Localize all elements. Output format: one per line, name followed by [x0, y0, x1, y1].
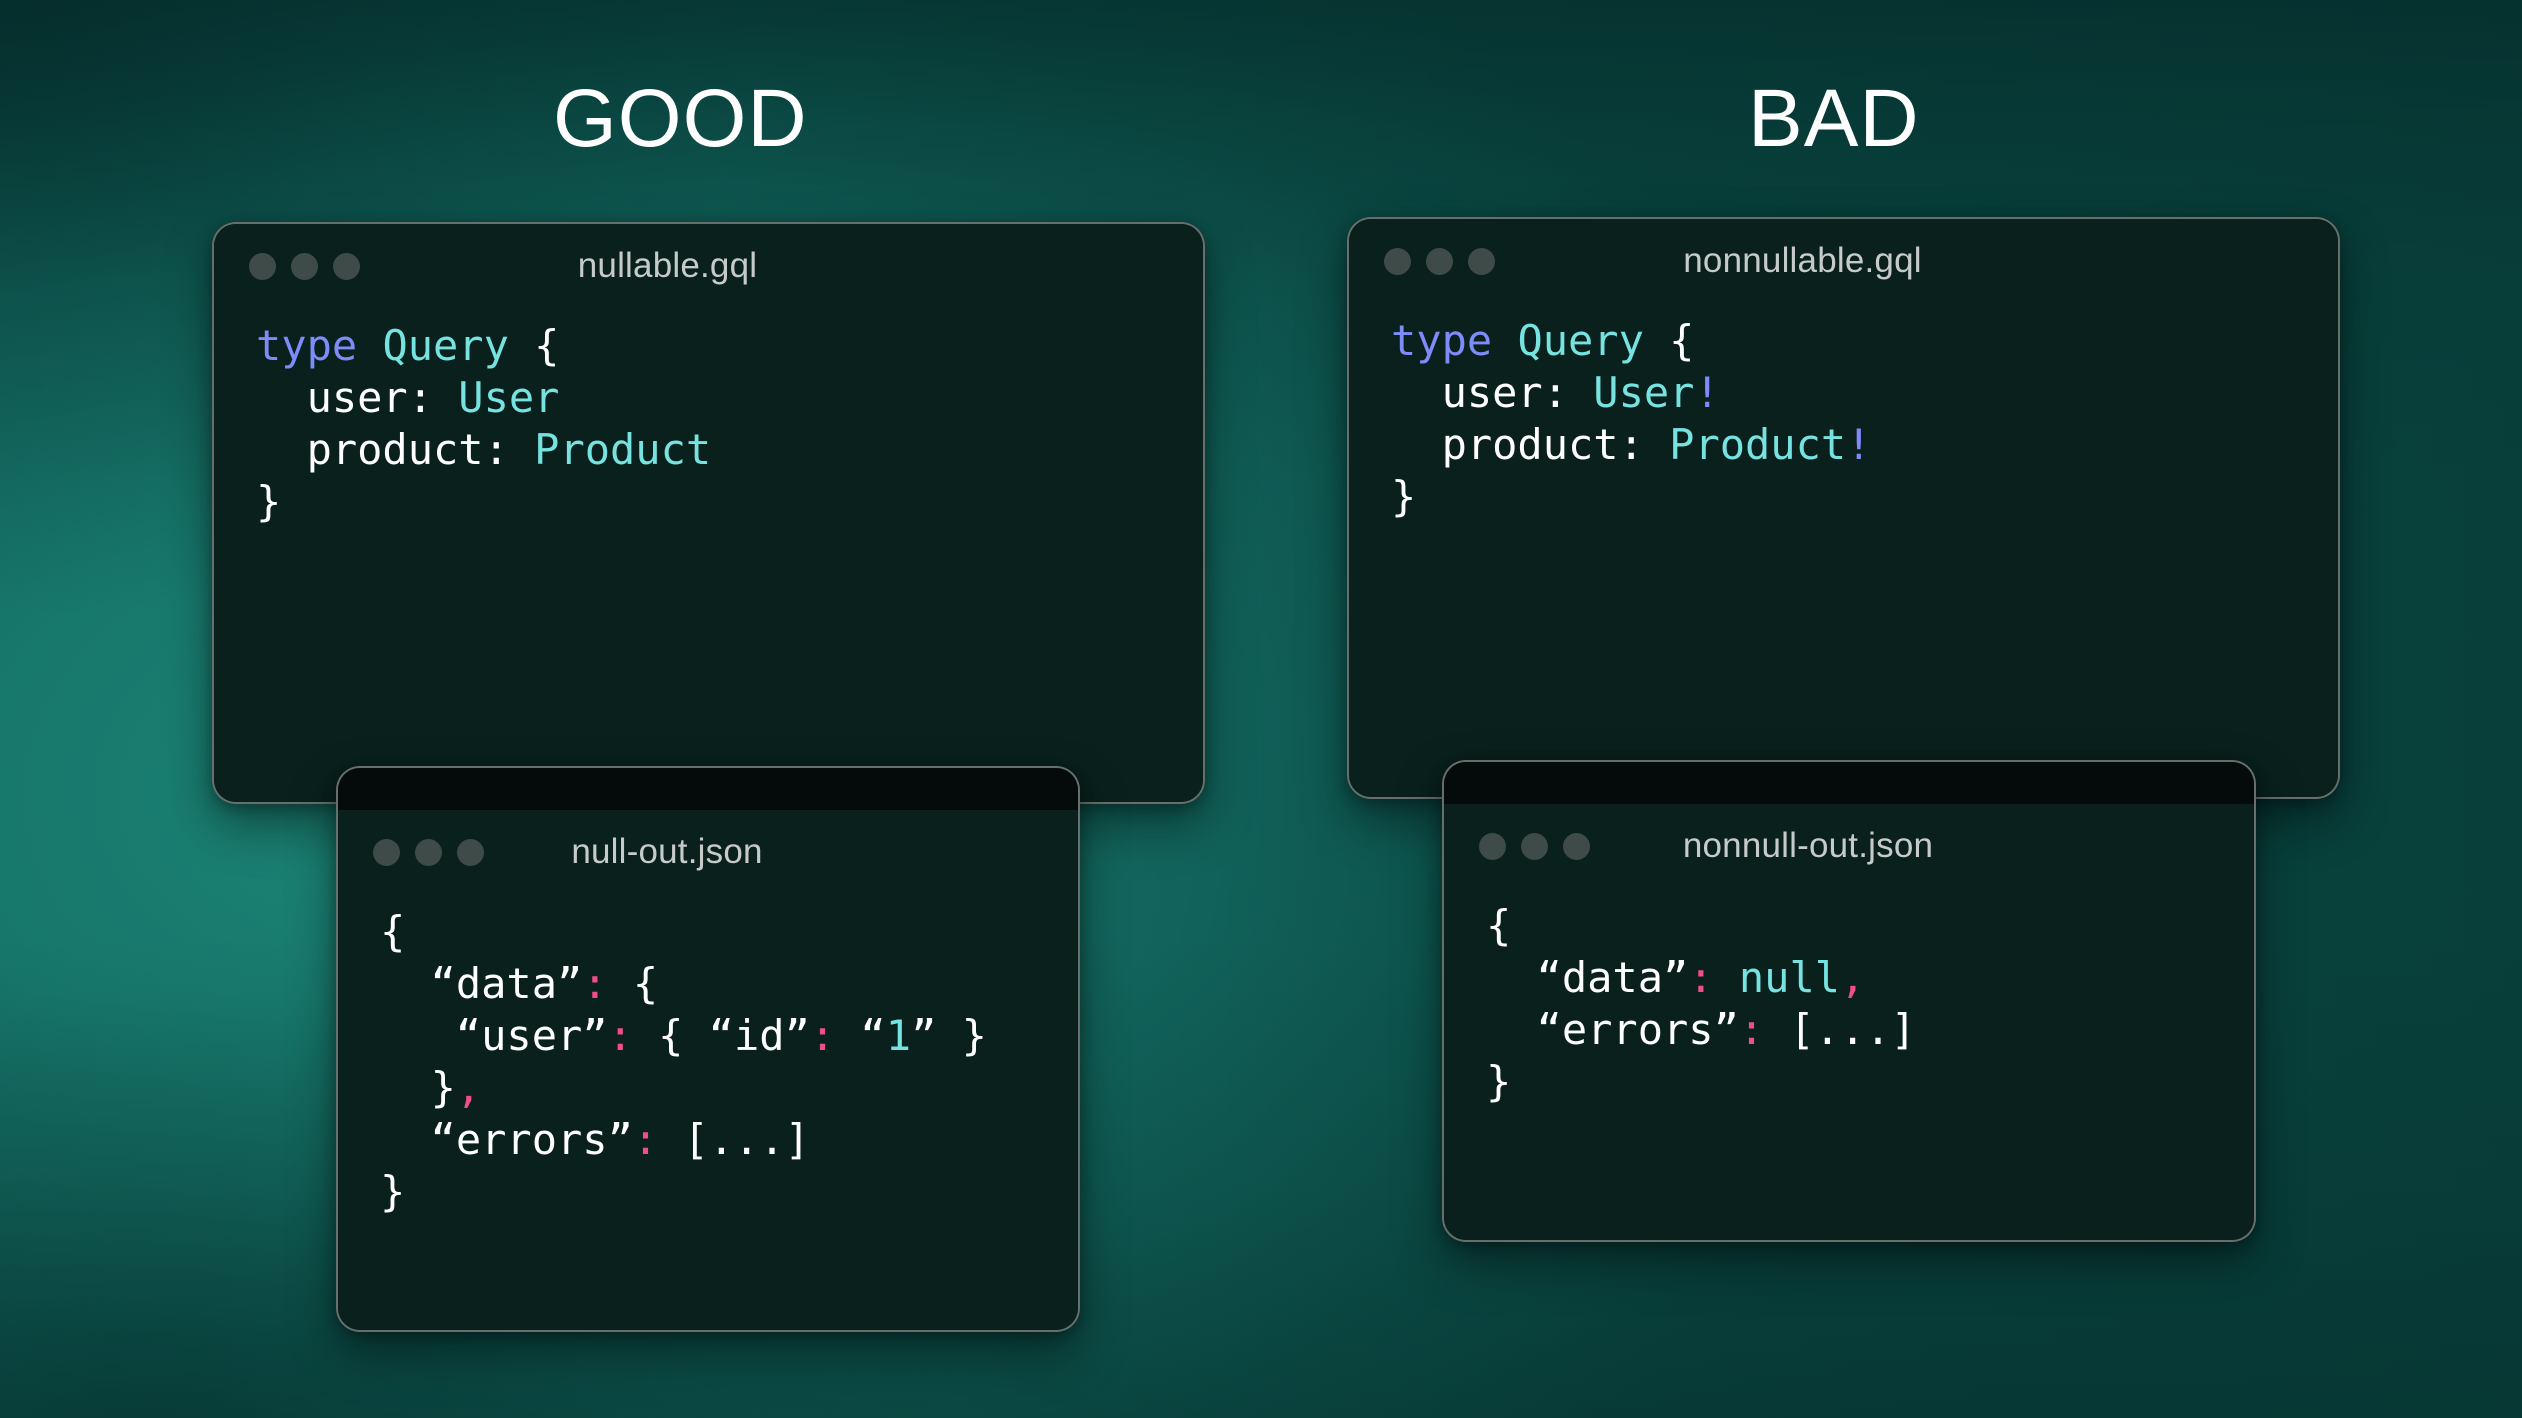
code-token: product:: [256, 425, 534, 474]
code-token: !: [1846, 420, 1871, 469]
code-line: },: [380, 1062, 1078, 1114]
window-body: nullable.gql type Query { user: User pro…: [214, 224, 1203, 802]
maximize-dot[interactable]: [457, 839, 484, 866]
code-line: }: [256, 476, 1203, 528]
window-title: nonnullable.gql: [1349, 241, 2338, 281]
code-token: Query: [382, 321, 508, 370]
code-token: User: [458, 373, 559, 422]
window-nonnullable-gql[interactable]: nonnullable.gql type Query { user: User!…: [1347, 217, 2340, 799]
code-token: “data”: [1486, 953, 1688, 1002]
code-token: {: [380, 907, 405, 956]
code-line: {: [380, 906, 1078, 958]
code-token: :: [1739, 1005, 1764, 1054]
code-token: “errors”: [380, 1115, 633, 1164]
code-block: { “data”: { “user”: { “id”: “1” } }, “er…: [338, 894, 1078, 1218]
code-line: product: Product!: [1391, 419, 2338, 471]
code-token: user:: [256, 373, 458, 422]
window-chrome-strip: [338, 768, 1078, 811]
code-token: “: [835, 1011, 886, 1060]
code-token: User: [1593, 368, 1694, 417]
code-token: “errors”: [1486, 1005, 1739, 1054]
code-token: {: [1644, 316, 1695, 365]
window-chrome-strip: [1444, 762, 2254, 805]
code-token: [1714, 953, 1739, 1002]
code-token: ,: [456, 1063, 481, 1112]
code-token: }: [256, 477, 281, 526]
code-line: }: [1391, 471, 2338, 523]
code-token: { “id”: [633, 1011, 810, 1060]
heading-good: GOOD: [553, 78, 808, 160]
code-token: Product: [534, 425, 711, 474]
close-dot[interactable]: [1479, 833, 1506, 860]
code-token: }: [1486, 1057, 1511, 1106]
code-token: !: [1694, 368, 1719, 417]
code-token: “user”: [380, 1011, 608, 1060]
code-token: Query: [1517, 316, 1643, 365]
minimize-dot[interactable]: [1426, 248, 1453, 275]
code-token: }: [380, 1063, 456, 1112]
code-line: “data”: {: [380, 958, 1078, 1010]
code-token: null: [1739, 953, 1840, 1002]
maximize-dot[interactable]: [333, 253, 360, 280]
window-titlebar[interactable]: nonnull-out.json: [1444, 804, 2254, 888]
code-line: }: [1486, 1056, 2254, 1108]
code-token: {: [1486, 901, 1511, 950]
maximize-dot[interactable]: [1563, 833, 1590, 860]
code-token: :: [582, 959, 607, 1008]
code-line: user: User: [256, 372, 1203, 424]
window-title: nullable.gql: [214, 246, 1203, 286]
window-titlebar[interactable]: nullable.gql: [214, 224, 1203, 308]
code-token: }: [1391, 472, 1416, 521]
traffic-lights[interactable]: [1479, 833, 1590, 860]
code-line: “user”: { “id”: “1” }: [380, 1010, 1078, 1062]
code-line: “data”: null,: [1486, 952, 2254, 1004]
window-nonnull-out-json[interactable]: nonnull-out.json { “data”: null, “errors…: [1442, 760, 2256, 1242]
code-block: { “data”: null, “errors”: [...]}: [1444, 888, 2254, 1108]
code-token: Product: [1669, 420, 1846, 469]
code-block: type Query { user: User! product: Produc…: [1349, 303, 2338, 523]
slide-canvas: GOOD BAD nullable.gql type Query { user:…: [0, 0, 2522, 1418]
code-token: ,: [1840, 953, 1865, 1002]
code-line: type Query {: [1391, 315, 2338, 367]
minimize-dot[interactable]: [291, 253, 318, 280]
code-token: :: [810, 1011, 835, 1060]
code-line: “errors”: [...]: [380, 1114, 1078, 1166]
window-body: nonnullable.gql type Query { user: User!…: [1349, 219, 2338, 797]
code-token: :: [608, 1011, 633, 1060]
code-token: {: [509, 321, 560, 370]
code-token: ” }: [911, 1011, 987, 1060]
traffic-lights[interactable]: [249, 253, 360, 280]
code-token: }: [380, 1167, 405, 1216]
code-token: [...]: [1764, 1005, 1916, 1054]
code-token: user:: [1391, 368, 1593, 417]
code-line: user: User!: [1391, 367, 2338, 419]
code-token: {: [608, 959, 659, 1008]
window-body: null-out.json { “data”: { “user”: { “id”…: [338, 810, 1078, 1330]
minimize-dot[interactable]: [1521, 833, 1548, 860]
code-token: product:: [1391, 420, 1669, 469]
code-token: type: [256, 321, 357, 370]
window-titlebar[interactable]: nonnullable.gql: [1349, 219, 2338, 303]
code-token: [...]: [658, 1115, 810, 1164]
code-line: product: Product: [256, 424, 1203, 476]
minimize-dot[interactable]: [415, 839, 442, 866]
close-dot[interactable]: [373, 839, 400, 866]
traffic-lights[interactable]: [373, 839, 484, 866]
code-token: [357, 321, 382, 370]
code-token: 1: [886, 1011, 911, 1060]
window-null-out-json[interactable]: null-out.json { “data”: { “user”: { “id”…: [336, 766, 1080, 1332]
window-nullable-gql[interactable]: nullable.gql type Query { user: User pro…: [212, 222, 1205, 804]
code-token: :: [633, 1115, 658, 1164]
code-token: type: [1391, 316, 1492, 365]
code-line: “errors”: [...]: [1486, 1004, 2254, 1056]
code-token: [1492, 316, 1517, 365]
code-line: {: [1486, 900, 2254, 952]
maximize-dot[interactable]: [1468, 248, 1495, 275]
close-dot[interactable]: [1384, 248, 1411, 275]
heading-bad: BAD: [1748, 78, 1920, 160]
code-line: type Query {: [256, 320, 1203, 372]
window-titlebar[interactable]: null-out.json: [338, 810, 1078, 894]
code-token: :: [1688, 953, 1713, 1002]
traffic-lights[interactable]: [1384, 248, 1495, 275]
code-block: type Query { user: User product: Product…: [214, 308, 1203, 528]
code-token: “data”: [380, 959, 582, 1008]
close-dot[interactable]: [249, 253, 276, 280]
code-line: }: [380, 1166, 1078, 1218]
window-body: nonnull-out.json { “data”: null, “errors…: [1444, 804, 2254, 1240]
